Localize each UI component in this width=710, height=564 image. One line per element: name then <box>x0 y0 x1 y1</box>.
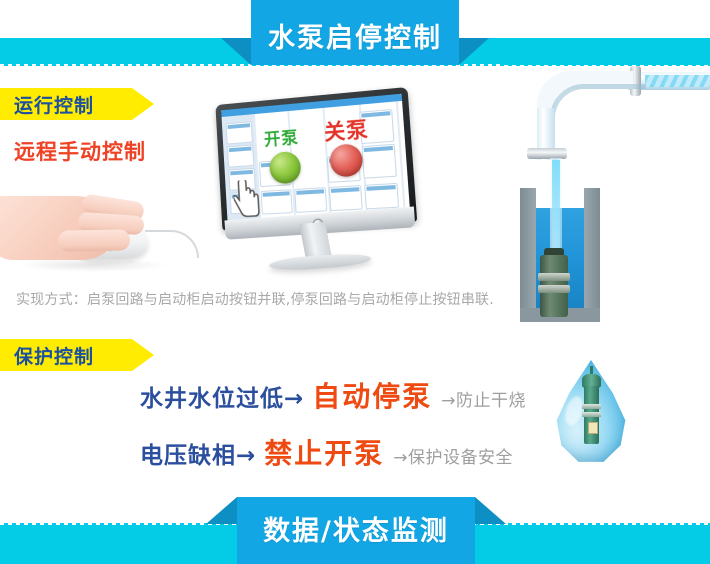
protection-rule-row: 电压缺相→ 禁止开泵 →保护设备安全 <box>140 432 513 472</box>
monitor-screen: 开泵 关泵 <box>221 94 410 222</box>
rule-effect: →防止干烧 <box>441 386 526 411</box>
bottom-ribbon-title: 数据/状态监测 <box>263 509 449 548</box>
hand-cursor-icon <box>233 179 263 218</box>
pipe-elbow-shading <box>550 84 646 140</box>
droplet-pump-band <box>582 412 601 417</box>
tag-run-control-label: 运行控制 <box>14 91 94 118</box>
rule-effect: →保护设备安全 <box>393 443 513 468</box>
bottom-ribbon-plate: 数据/状态监测 <box>237 497 475 564</box>
well-wall-left <box>520 188 536 320</box>
bottom-ribbon-right-wing <box>475 497 506 524</box>
run-control-subtitle: 远程手动控制 <box>14 136 146 166</box>
droplet-pump-band <box>582 404 601 409</box>
top-ribbon-title: 水泵启停控制 <box>268 16 442 55</box>
hmi-card <box>364 183 399 210</box>
hmi-card <box>329 185 363 211</box>
rule-condition: 水井水位过低→ <box>140 379 304 413</box>
tag-protection-control: 保护控制 <box>0 339 132 371</box>
monitor-base <box>269 252 372 272</box>
hmi-start-pump-label: 开泵 <box>263 123 299 150</box>
hmi-card <box>294 187 327 213</box>
bottom-ribbon-left-wing <box>206 497 237 524</box>
well-wall-right <box>584 188 600 320</box>
rule-action: 禁止开泵 <box>264 432 384 472</box>
hmi-card <box>226 121 253 144</box>
pump-band <box>538 273 570 281</box>
hand-on-mouse-illustration <box>0 170 195 280</box>
pump-band <box>538 285 570 293</box>
protection-rule-row: 水井水位过低→ 自动停泵 →防止干烧 <box>140 375 526 415</box>
water-droplet-illustration <box>548 352 636 472</box>
tag-protection-control-label: 保护控制 <box>14 342 94 369</box>
well-top-cyan-strip <box>500 60 710 65</box>
pipe-water-flow <box>645 75 710 87</box>
desktop-monitor-illustration: 开泵 关泵 <box>190 88 432 289</box>
rule-action: 自动停泵 <box>312 375 432 415</box>
implementation-note: 实现方式：启泵回路与启动柜启动按钮并联,停泵回路与启动柜停止按钮串联. <box>16 289 494 309</box>
mouse-shadow <box>18 258 168 272</box>
hmi-card <box>261 189 293 214</box>
tag-run-control: 运行控制 <box>0 88 132 120</box>
poster-canvas: 水泵启停控制 运行控制 远程手动控制 开泵 关泵 <box>0 0 710 564</box>
well-pump-illustration <box>500 60 710 280</box>
rule-condition: 电压缺相→ <box>140 436 256 470</box>
top-ribbon-right-wing <box>459 38 489 65</box>
hmi-card <box>362 144 397 179</box>
top-ribbon-plate: 水泵启停控制 <box>251 0 459 65</box>
droplet-pump-nameplate <box>588 422 598 434</box>
finger <box>58 229 130 251</box>
hmi-stop-pump-label: 关泵 <box>323 113 369 147</box>
top-ribbon-left-wing <box>221 38 251 65</box>
mouse-cable <box>145 230 199 258</box>
hmi-card <box>227 144 254 167</box>
